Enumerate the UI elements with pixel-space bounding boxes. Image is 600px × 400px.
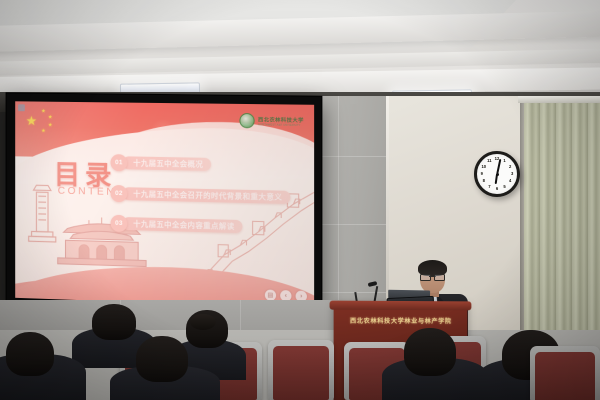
slide-list-item: 02 十九届五中全会召开的时代背景和重大意义 xyxy=(111,185,291,206)
list-item-label: 十九届五中全会概况 xyxy=(122,156,211,171)
slide-list-item: 01 十九届五中全会概况 xyxy=(111,154,212,173)
flag-star-small: ★ xyxy=(48,123,52,128)
clock-center-pin xyxy=(496,173,499,176)
eyeglasses-icon xyxy=(420,274,445,279)
chinese-flag: ★ ★ ★ ★ ★ xyxy=(22,107,80,141)
clock-numeral: 3 xyxy=(511,172,513,176)
auditorium-seat xyxy=(268,340,334,400)
audience-head xyxy=(404,328,456,376)
clock-minute-hand xyxy=(496,159,501,174)
lecture-hall-photo: 12 1 2 3 4 5 6 7 8 9 10 11 xyxy=(0,0,600,400)
audience-head xyxy=(136,336,188,382)
clock-numeral: 5 xyxy=(503,185,505,189)
presentation-slide: ★ ★ ★ ★ ★ 西北农林科技大学 NORTHWEST A&F UNIVERS… xyxy=(15,101,314,308)
auditorium-seat xyxy=(530,346,600,400)
clock-numeral: 4 xyxy=(509,179,511,183)
audience-hair-bun xyxy=(190,314,216,330)
ceiling xyxy=(0,0,600,96)
flag-star-small: ★ xyxy=(41,109,45,114)
flag-star-small: ★ xyxy=(48,115,52,120)
clock-numeral: 1 xyxy=(503,159,505,163)
clock-numeral: 10 xyxy=(481,165,486,169)
slide-list-item: 03 十九届五中全会内容重点解读 xyxy=(111,215,243,236)
list-item-number: 03 xyxy=(111,215,128,232)
clock-numeral: 9 xyxy=(481,172,483,176)
university-seal-icon xyxy=(240,113,255,128)
clock-numeral: 2 xyxy=(509,165,511,169)
audience-head xyxy=(6,332,54,376)
projection-screen-frame: ★ ★ ★ ★ ★ 西北农林科技大学 NORTHWEST A&F UNIVERS… xyxy=(6,92,323,318)
audience-area xyxy=(0,296,600,400)
university-name-cn: 西北农林科技大学 xyxy=(258,116,304,124)
list-item-label: 十九届五中全会内容重点解读 xyxy=(122,217,242,233)
slide-university-logo: 西北农林科技大学 NORTHWEST A&F UNIVERSITY xyxy=(240,113,304,129)
audience-head xyxy=(92,304,136,340)
clock-numeral: 11 xyxy=(487,159,491,163)
flag-star-small: ★ xyxy=(41,129,45,134)
clock-face: 12 1 2 3 4 5 6 7 8 9 10 11 xyxy=(477,154,517,194)
clock-numeral: 8 xyxy=(483,179,485,183)
projection-screen[interactable]: ★ ★ ★ ★ ★ 西北农林科技大学 NORTHWEST A&F UNIVERS… xyxy=(15,101,314,308)
list-item-label: 十九届五中全会召开的时代背景和重大意义 xyxy=(122,187,290,204)
flag-star-large: ★ xyxy=(26,114,37,127)
university-name-en: NORTHWEST A&F UNIVERSITY xyxy=(258,123,304,127)
list-item-number: 01 xyxy=(111,154,128,171)
list-item-number: 02 xyxy=(111,185,128,202)
curtain-rail xyxy=(518,96,600,103)
clock-numeral: 6 xyxy=(496,187,498,191)
wall-clock: 12 1 2 3 4 5 6 7 8 9 10 11 xyxy=(474,151,520,197)
clock-numeral: 7 xyxy=(488,185,490,189)
